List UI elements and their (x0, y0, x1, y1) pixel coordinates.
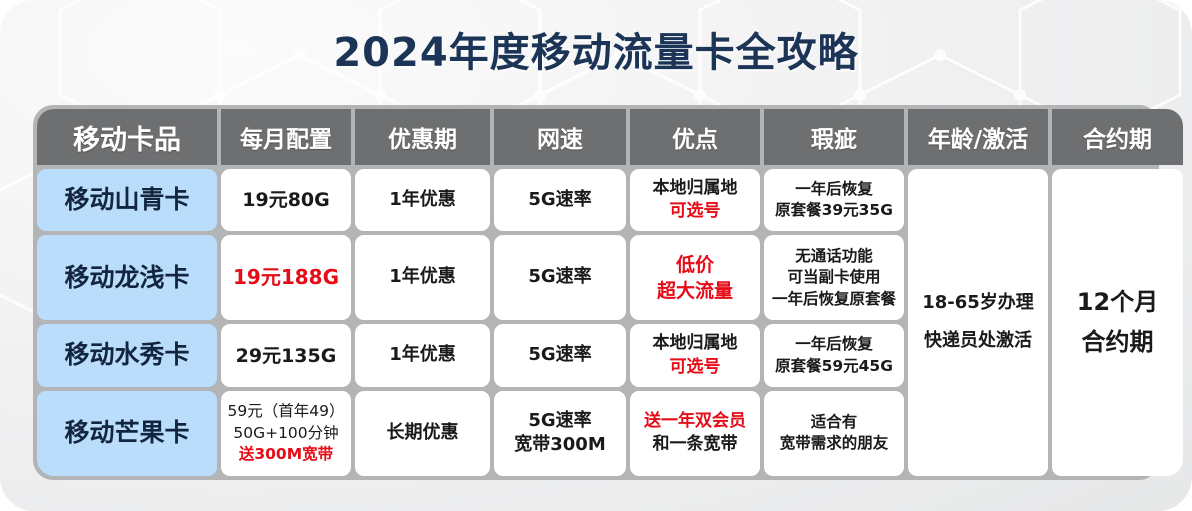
cell-cons: 一年后恢复 原套餐59元45G (764, 324, 904, 386)
table-header-row: 移动卡品 每月配置 优惠期 网速 优点 瑕疵 年龄/激活 合约期 (37, 109, 1183, 165)
cell-network-speed: 5G速率 (494, 235, 626, 320)
table-row: 移动山青卡 19元80G 1年优惠 5G速率 本地归属地 可选号 一年后恢复 原… (37, 169, 1183, 231)
mobile-card-comparison-table: 移动卡品 每月配置 优惠期 网速 优点 瑕疵 年龄/激活 合约期 移动山青卡 1… (33, 105, 1187, 480)
cell-monthly-config: 29元135G (221, 324, 351, 386)
cell-cons: 无通话功能 可当副卡使用 一年后恢复原套餐 (764, 235, 904, 320)
column-header-monthly: 每月配置 (221, 109, 351, 165)
column-header-promo: 优惠期 (355, 109, 490, 165)
cell-contract-period: 12个月 合约期 (1052, 169, 1183, 476)
column-header-speed: 网速 (494, 109, 626, 165)
cell-pros: 送一年双会员 和一条宽带 (630, 391, 760, 476)
page-title: 2024年度移动流量卡全攻略 (333, 20, 858, 78)
column-header-cons: 瑕疵 (764, 109, 904, 165)
cell-card-name: 移动山青卡 (37, 169, 217, 231)
cell-promo-period: 1年优惠 (355, 324, 490, 386)
cell-pros: 本地归属地 可选号 (630, 324, 760, 386)
cell-monthly-config: 19元80G (221, 169, 351, 231)
comparison-table-frame: 移动卡品 每月配置 优惠期 网速 优点 瑕疵 年龄/激活 合约期 移动山青卡 1… (33, 105, 1159, 480)
cell-promo-period: 长期优惠 (355, 391, 490, 476)
cell-promo-period: 1年优惠 (355, 235, 490, 320)
cell-age-activation: 18-65岁办理 快递员处激活 (908, 169, 1048, 476)
cell-card-name: 移动芒果卡 (37, 391, 217, 476)
cell-cons: 一年后恢复 原套餐39元35G (764, 169, 904, 231)
cell-card-name: 移动龙浅卡 (37, 235, 217, 320)
cell-pros: 本地归属地 可选号 (630, 169, 760, 231)
column-header-card-name: 移动卡品 (37, 109, 217, 165)
cell-cons: 适合有 宽带需求的朋友 (764, 391, 904, 476)
cell-monthly-config: 59元（首年49） 50G+100分钟 送300M宽带 (221, 391, 351, 476)
column-header-pros: 优点 (630, 109, 760, 165)
infographic-canvas: 2024年度移动流量卡全攻略 移动卡品 每月配置 优惠期 网速 优点 瑕疵 年龄… (0, 0, 1192, 511)
cell-network-speed: 5G速率 (494, 324, 626, 386)
column-header-age: 年龄/激活 (908, 109, 1048, 165)
page-title-container: 2024年度移动流量卡全攻略 (0, 20, 1192, 78)
cell-pros: 低价 超大流量 (630, 235, 760, 320)
cell-network-speed: 5G速率 (494, 169, 626, 231)
cell-card-name: 移动水秀卡 (37, 324, 217, 386)
cell-network-speed: 5G速率 宽带300M (494, 391, 626, 476)
cell-monthly-config: 19元188G (221, 235, 351, 320)
column-header-contract: 合约期 (1052, 109, 1183, 165)
cell-promo-period: 1年优惠 (355, 169, 490, 231)
